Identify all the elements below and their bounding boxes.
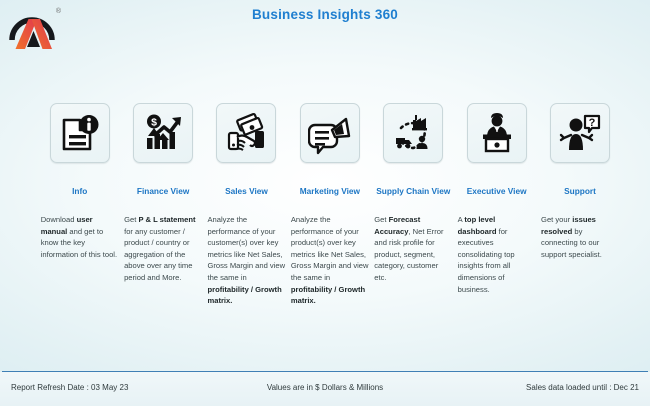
nav-card-label: Marketing View — [300, 186, 360, 196]
nav-card-description: Analyze the performance of your customer… — [207, 214, 285, 307]
executive-view-tile[interactable] — [467, 103, 527, 163]
executive-podium-speaker-icon — [475, 111, 519, 155]
nav-card-marketing-view[interactable]: Marketing View Analyze the performance o… — [288, 103, 371, 307]
page-title: Business Insights 360 — [0, 7, 650, 22]
support-tile[interactable]: ? — [550, 103, 610, 163]
emphasis-text: top level dashboard — [458, 215, 497, 236]
plain-text: Get — [374, 215, 388, 224]
navigation-cards: Info Download user manual and get to kno… — [38, 103, 622, 328]
footer-bar: Report Refresh Date : 03 May 23 Values a… — [0, 372, 650, 406]
nav-card-finance-view[interactable]: $ Finance View Get P & L statement for a… — [121, 103, 204, 284]
document-info-icon — [58, 111, 102, 155]
plain-text: Analyze the performance of your customer… — [207, 215, 285, 282]
plain-text: Get your — [541, 215, 572, 224]
nav-card-description: Get Forecast Accuracy, Net Error and ris… — [374, 214, 452, 284]
supply-chain-view-tile[interactable] — [383, 103, 443, 163]
sales-data-loaded-until: Sales data loaded until : Dec 21 — [526, 383, 639, 392]
supply-chain-truck-factory-icon — [391, 111, 435, 155]
emphasis-text: profitability / Growth matrix. — [207, 285, 281, 306]
bar-chart-dollar-growth-icon: $ — [141, 111, 185, 155]
nav-card-sales-view[interactable]: Sales View Analyze the performance of yo… — [205, 103, 288, 307]
nav-card-info[interactable]: Info Download user manual and get to kno… — [38, 103, 121, 260]
nav-card-label: Support — [564, 186, 596, 196]
plain-text: Download — [41, 215, 77, 224]
plain-text: Analyze the performance of your product(… — [291, 215, 369, 282]
nav-card-description: Download user manual and get to know the… — [41, 214, 119, 260]
person-question-support-icon: ? — [558, 111, 602, 155]
nav-card-support[interactable]: ? Support Get your issues resolved by co… — [538, 103, 621, 260]
svg-text:$: $ — [151, 117, 157, 129]
handshake-money-icon — [224, 111, 268, 155]
info-tile[interactable] — [50, 103, 110, 163]
nav-card-description: Get P & L statement for any customer / p… — [124, 214, 202, 284]
nav-card-executive-view[interactable]: Executive View A top level dashboard for… — [455, 103, 538, 295]
emphasis-text: P & L statement — [138, 215, 195, 224]
plain-text: Get — [124, 215, 138, 224]
nav-card-label: Finance View — [137, 186, 189, 196]
nav-card-description: A top level dashboard for executives con… — [458, 214, 536, 295]
nav-card-label: Info — [72, 186, 87, 196]
nav-card-description: Analyze the performance of your product(… — [291, 214, 369, 307]
megaphone-speech-bubble-icon — [308, 111, 352, 155]
plain-text: for any customer / product / country or … — [124, 227, 192, 282]
marketing-view-tile[interactable] — [300, 103, 360, 163]
nav-card-label: Executive View — [467, 186, 527, 196]
nav-card-supply-chain-view[interactable]: Supply Chain View Get Forecast Accuracy,… — [372, 103, 455, 284]
nav-card-description: Get your issues resolved by connecting t… — [541, 214, 619, 260]
nav-card-label: Sales View — [225, 186, 268, 196]
svg-text:?: ? — [589, 117, 596, 129]
emphasis-text: profitability / Growth matrix. — [291, 285, 365, 306]
dashboard-home-page: ® Business Insights 360 Info Download us… — [0, 0, 650, 406]
finance-view-tile[interactable]: $ — [133, 103, 193, 163]
plain-text: for executives consolidating top insight… — [458, 227, 515, 294]
nav-card-label: Supply Chain View — [376, 186, 450, 196]
sales-view-tile[interactable] — [216, 103, 276, 163]
